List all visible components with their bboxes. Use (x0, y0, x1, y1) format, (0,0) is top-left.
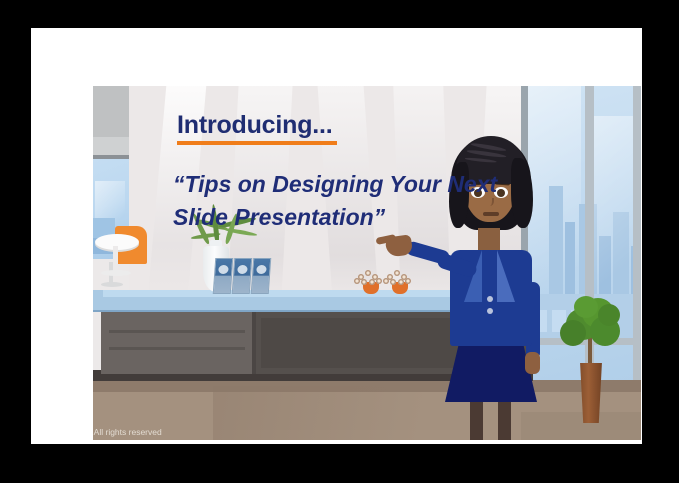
presenter-skirt (445, 340, 537, 402)
slide-subtitle: “Tips on Designing Your Next Slide Prese… (173, 168, 553, 233)
slide-stage: Introducing... “Tips on Designing Your N… (93, 86, 641, 440)
video-frame: Introducing... “Tips on Designing Your N… (0, 0, 679, 483)
copyright-strip: e Inc. All rights reserved (93, 427, 513, 440)
presenter-jacket-button-2 (487, 308, 493, 314)
slide-title: Introducing... (177, 113, 337, 138)
copyright-text: e Inc. All rights reserved (93, 427, 162, 437)
presenter-jacket-button-1 (487, 296, 493, 302)
slide-title-underline (177, 141, 337, 145)
presenter-right-hand (525, 352, 540, 374)
presenter-figure (93, 86, 641, 440)
slide-title-group: Introducing... (177, 113, 337, 145)
slide-card: Introducing... “Tips on Designing Your N… (31, 28, 642, 444)
